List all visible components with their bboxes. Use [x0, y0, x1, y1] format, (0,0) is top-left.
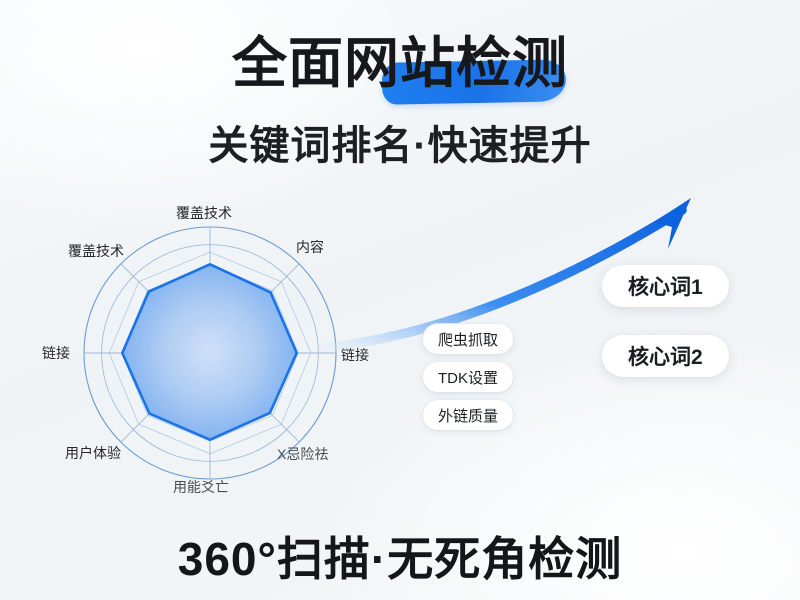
- page-subtitle: 关键词排名·快速提升: [0, 113, 800, 171]
- arrow-head: [654, 198, 691, 249]
- pill-crawler-fetch[interactable]: 爬虫抓取: [423, 324, 513, 354]
- page-title: 全面网站检测: [232, 34, 568, 92]
- pill-core-keyword-2[interactable]: 核心词2: [602, 335, 729, 377]
- radar-axis-label-top-left: 覆盖技术: [68, 241, 124, 261]
- radar-axis-label-bottom-right: X忌险祛: [277, 444, 328, 464]
- radar-axis-label-bottom: 用能爻亡: [173, 477, 229, 497]
- headline-block: 全面网站检测: [0, 34, 800, 92]
- page-title-text: 全面网站检测: [232, 32, 568, 94]
- radar-axis-label-top: 覆盖技术: [176, 203, 232, 223]
- pill-backlink-quality[interactable]: 外链质量: [423, 400, 513, 430]
- poster-canvas: 全面网站检测 关键词排名·快速提升 360°扫描·无死角检测 覆盖技术 内容 链…: [0, 0, 800, 600]
- radar-axis-label-left: 链接: [42, 343, 70, 363]
- page-footer-title: 360°扫描·无死角检测: [0, 523, 800, 589]
- radar-axis-label-bottom-left: 用户体验: [65, 443, 121, 463]
- pill-core-keyword-1[interactable]: 核心词1: [602, 265, 729, 307]
- pill-tdk-settings[interactable]: TDK设置: [423, 362, 513, 392]
- radar-data-area: [122, 264, 296, 439]
